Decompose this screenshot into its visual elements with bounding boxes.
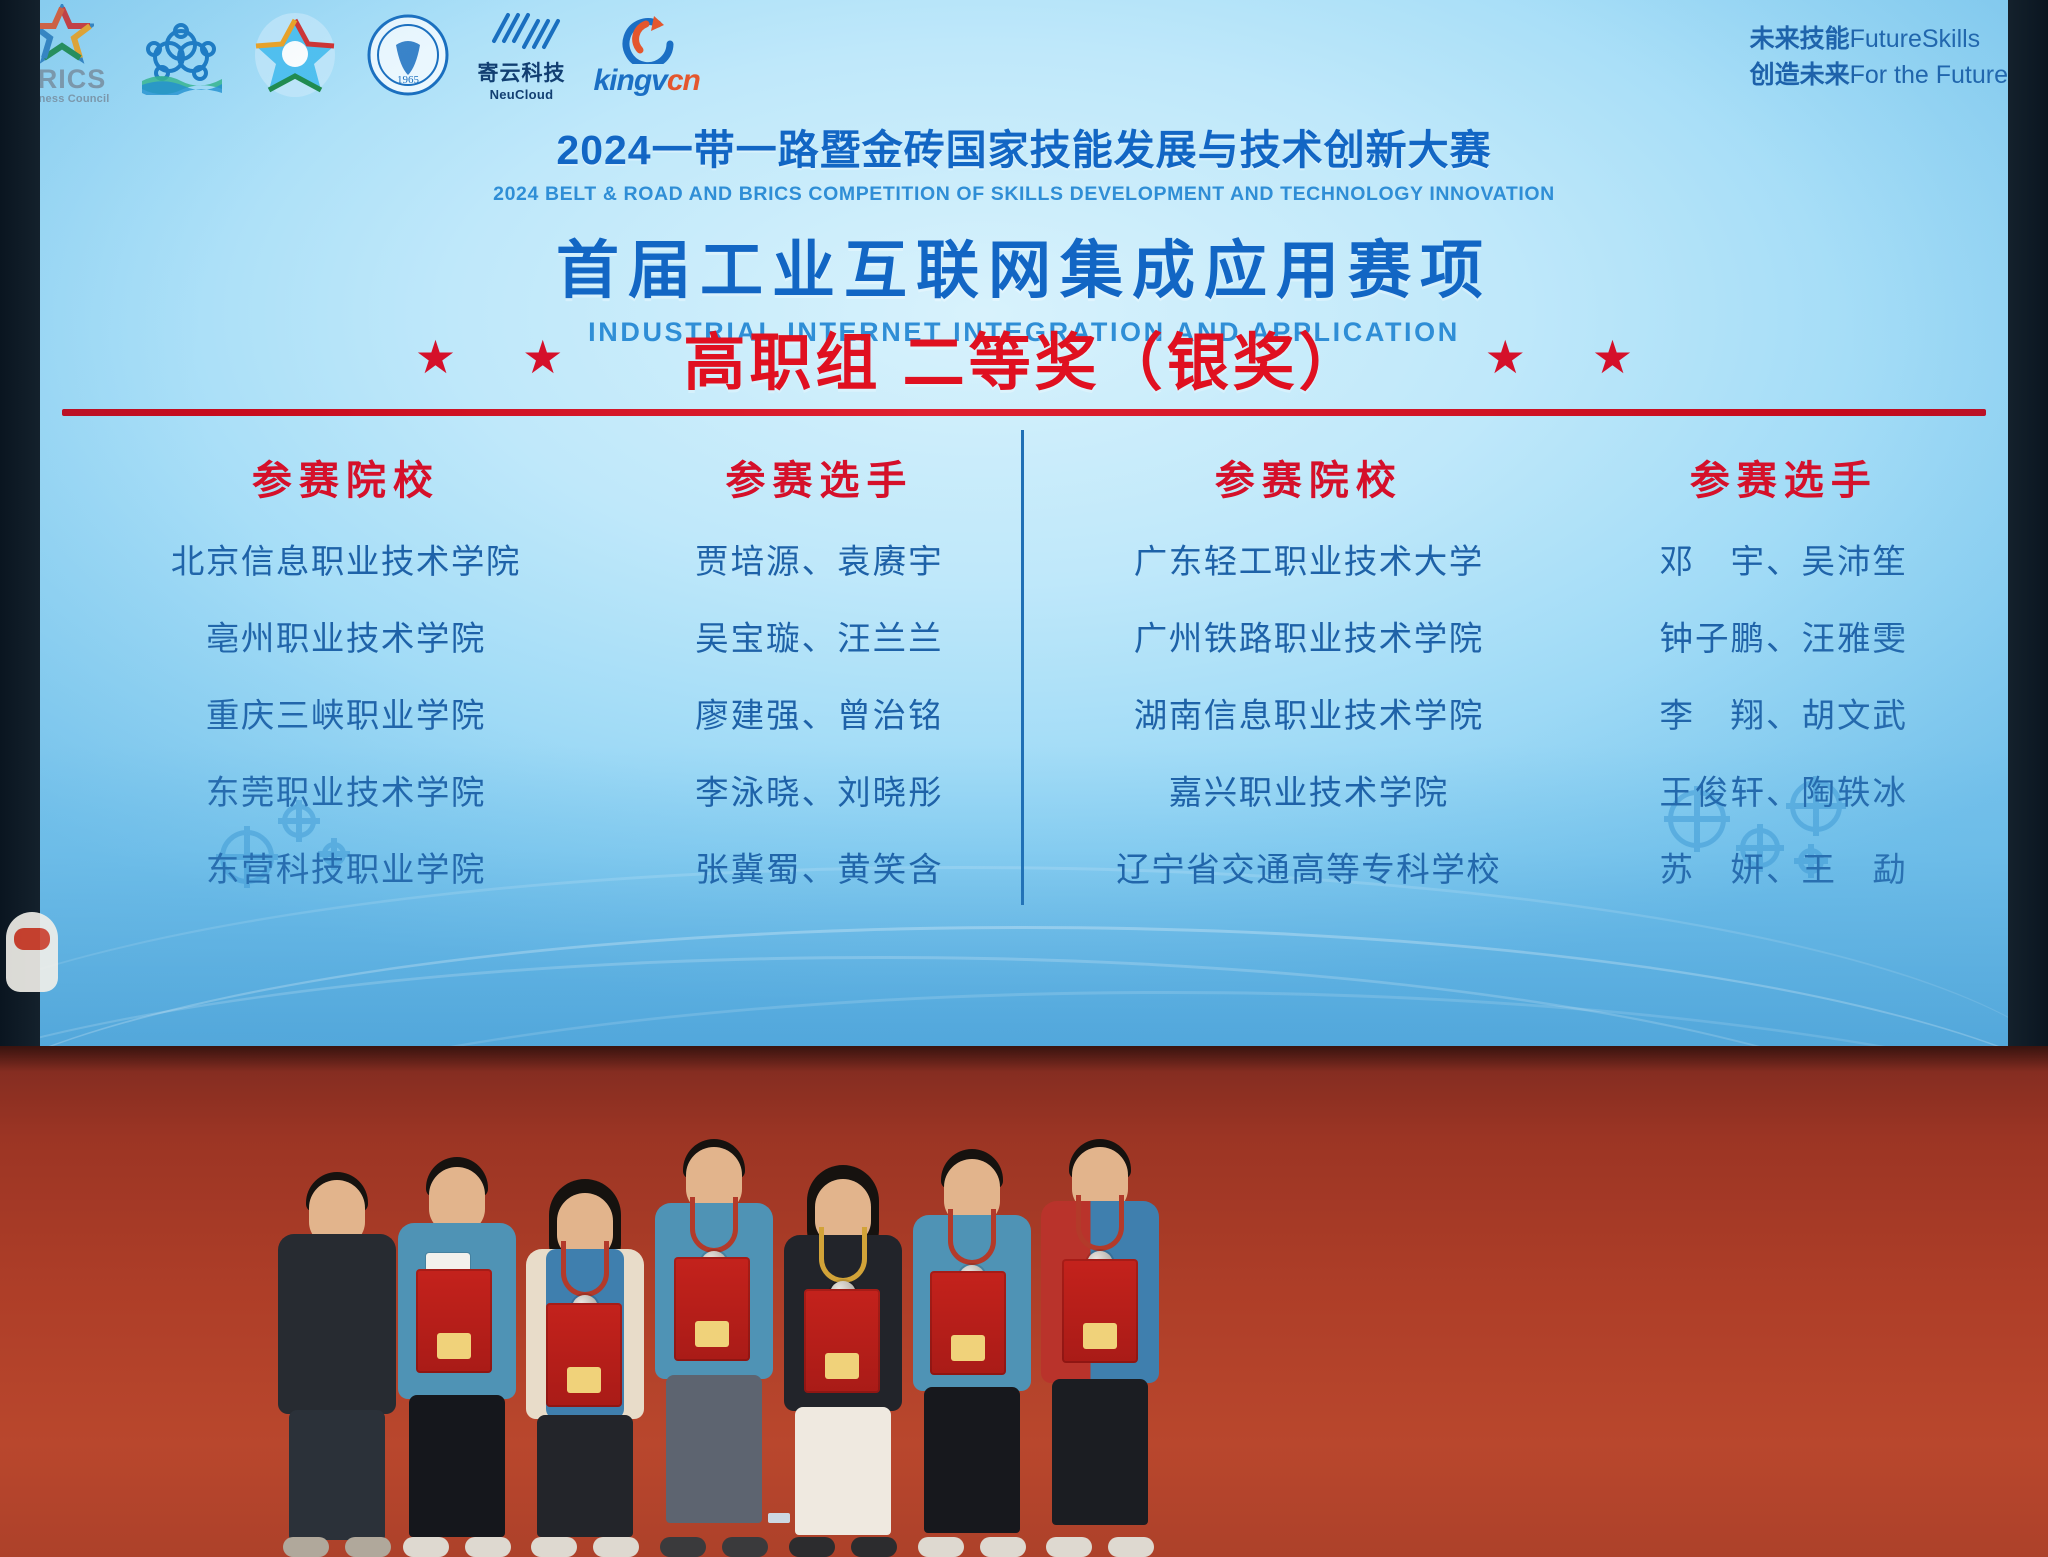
star-icon: ★: [415, 334, 456, 380]
stage-floor: [0, 1046, 2048, 1557]
award-folder: [1062, 1259, 1138, 1363]
contestant-names: 吴宝璇、汪兰兰: [624, 597, 1015, 674]
contestant-names: 王俊轩、陶轶冰: [1587, 751, 1980, 828]
legs: [795, 1407, 891, 1535]
table-header-row: 参赛院校 参赛选手: [1030, 430, 1980, 520]
futureskills-slogan: 未来技能FutureSkills 创造未来For the Future: [1750, 22, 2008, 93]
legs: [409, 1395, 505, 1537]
competition-title-en: 2024 BELT & ROAD AND BRICS COMPETITION O…: [0, 183, 2048, 206]
medal-ribbon: [948, 1209, 996, 1265]
person-award-recipient-2: [520, 1175, 650, 1557]
sponsor-logo-strip: BRICS Business Council: [14, 4, 700, 105]
award-folder: [416, 1269, 492, 1373]
legs: [1052, 1379, 1148, 1525]
contestant-names: 钟子鹏、汪雅雯: [1587, 597, 1980, 674]
table-row: 亳州职业技术学院 吴宝璇、汪兰兰: [68, 597, 1015, 674]
legs: [289, 1410, 385, 1540]
star-icon: ★: [522, 334, 563, 380]
person-award-recipient-5: [906, 1149, 1038, 1557]
star-icon: ★: [1592, 334, 1633, 380]
person-presenter: [272, 1172, 402, 1557]
stage-scene: BRICS Business Council: [0, 0, 2048, 1557]
award-recipients-group: [0, 1046, 2048, 1557]
shoes: [660, 1535, 768, 1557]
legs: [924, 1387, 1020, 1533]
star-icon: ★: [1485, 334, 1526, 380]
person-award-recipient-3: [648, 1139, 780, 1557]
legs: [537, 1415, 633, 1537]
table-row: 辽宁省交通高等专科学校 苏 妍、王 勐: [1030, 828, 1980, 905]
competition-title-cn: 2024一带一路暨金砖国家技能发展与技术创新大赛: [0, 116, 2048, 176]
table-row: 嘉兴职业技术学院 王俊轩、陶轶冰: [1030, 751, 1980, 828]
university-seal-icon: 1965: [366, 13, 450, 97]
medal-ribbon: [690, 1197, 738, 1253]
futureskills-line-1: 未来技能FutureSkills: [1750, 22, 2008, 58]
neucloud-en-label: NeuCloud: [490, 87, 554, 102]
seal-year: 1965: [397, 74, 420, 86]
school-name: 湖南信息职业技术学院: [1030, 674, 1587, 751]
shoes: [403, 1535, 511, 1557]
kingvcn-wordmark: kingvcn: [594, 64, 700, 98]
award-folder: [930, 1271, 1006, 1375]
table-header-row: 参赛院校 参赛选手: [68, 430, 1015, 520]
school-name: 东莞职业技术学院: [68, 751, 624, 828]
neucloud-cn-label: 寄云科技: [478, 57, 566, 87]
floor-tape-marker: [768, 1513, 790, 1523]
torso-jacket: [278, 1234, 396, 1414]
school-name: 北京信息职业技术学院: [68, 520, 624, 597]
table-row: 东营科技职业学院 张冀蜀、黄笑含: [68, 828, 1015, 905]
column-header-school: 参赛院校: [1030, 430, 1587, 520]
event-title-cn: 首届工业互联网集成应用赛项: [0, 220, 2048, 311]
winners-table-left-half: 参赛院校 参赛选手 北京信息职业技术学院 贾培源、袁赓宇 亳州职业技术学院 吴宝…: [62, 430, 1024, 905]
column-header-school: 参赛院校: [68, 430, 624, 520]
table-row: 广东轻工职业技术大学 邓 宇、吴沛笙: [1030, 520, 1980, 597]
award-title: 高职组 二等奖（银奖）: [683, 312, 1364, 402]
contestant-names: 李泳晓、刘晓彤: [624, 751, 1015, 828]
school-name: 广东轻工职业技术大学: [1030, 520, 1587, 597]
star-group-left: ★ ★: [415, 334, 564, 380]
school-name: 亳州职业技术学院: [68, 597, 624, 674]
mascot-figure: [6, 912, 58, 992]
person-award-recipient-4: [778, 1165, 908, 1557]
shoes: [1046, 1535, 1154, 1557]
shoes: [918, 1535, 1026, 1557]
shoes: [789, 1535, 897, 1557]
contestant-names: 苏 妍、王 勐: [1587, 828, 1980, 905]
school-name: 东营科技职业学院: [68, 828, 624, 905]
hexagon-network-icon: [138, 15, 224, 95]
hexagon-network-logo: [138, 15, 224, 95]
neucloud-logo: 寄云科技 NeuCloud: [478, 7, 566, 102]
contestant-names: 邓 宇、吴沛笙: [1587, 520, 1980, 597]
column-header-contestants: 参赛选手: [1587, 430, 1980, 520]
column-header-contestants: 参赛选手: [624, 430, 1015, 520]
contestant-names: 贾培源、袁赓宇: [624, 520, 1015, 597]
star-emblem-icon: [252, 12, 338, 98]
table-row: 广州铁路职业技术学院 钟子鹏、汪雅雯: [1030, 597, 1980, 674]
award-folder: [546, 1303, 622, 1407]
table-row: 湖南信息职业技术学院 李 翔、胡文武: [1030, 674, 1980, 751]
shoes: [531, 1535, 639, 1557]
medal-ribbon: [819, 1227, 867, 1283]
table-row: 重庆三峡职业学院 廖建强、曾治铭: [68, 674, 1015, 751]
legs: [666, 1375, 762, 1523]
school-name: 辽宁省交通高等专科学校: [1030, 828, 1587, 905]
school-name: 广州铁路职业技术学院: [1030, 597, 1587, 674]
award-folder: [674, 1257, 750, 1361]
medal-ribbon: [561, 1241, 609, 1297]
kingvcn-swirl-icon: [610, 12, 684, 64]
led-backdrop-screen: BRICS Business Council: [0, 0, 2048, 1046]
star-group-right: ★ ★: [1485, 334, 1634, 380]
school-name: 重庆三峡职业学院: [68, 674, 624, 751]
table-row: 东莞职业技术学院 李泳晓、刘晓彤: [68, 751, 1015, 828]
neucloud-stripes-icon: [478, 7, 566, 57]
award-folder: [804, 1289, 880, 1393]
person-award-recipient-1: [392, 1157, 522, 1557]
contestant-names: 李 翔、胡文武: [1587, 674, 1980, 751]
contestant-names: 廖建强、曾治铭: [624, 674, 1015, 751]
horizontal-divider-rule: [62, 409, 1986, 416]
winners-table-right-half: 参赛院校 参赛选手 广东轻工职业技术大学 邓 宇、吴沛笙 广州铁路职业技术学院 …: [1024, 430, 1986, 905]
university-seal-logo: 1965: [366, 13, 450, 97]
shoes: [283, 1535, 391, 1557]
star-emblem-logo: [252, 12, 338, 98]
contestant-names: 张冀蜀、黄笑含: [624, 828, 1015, 905]
school-name: 嘉兴职业技术学院: [1030, 751, 1587, 828]
person-award-recipient-6: [1034, 1139, 1166, 1557]
award-title-row: ★ ★ 高职组 二等奖（银奖） ★ ★: [0, 312, 2048, 402]
winners-table: 参赛院校 参赛选手 北京信息职业技术学院 贾培源、袁赓宇 亳州职业技术学院 吴宝…: [62, 430, 1986, 905]
futureskills-line-2: 创造未来For the Future: [1750, 58, 2008, 94]
kingvcn-logo: kingvcn: [594, 12, 700, 98]
table-row: 北京信息职业技术学院 贾培源、袁赓宇: [68, 520, 1015, 597]
medal-ribbon: [1076, 1195, 1124, 1251]
